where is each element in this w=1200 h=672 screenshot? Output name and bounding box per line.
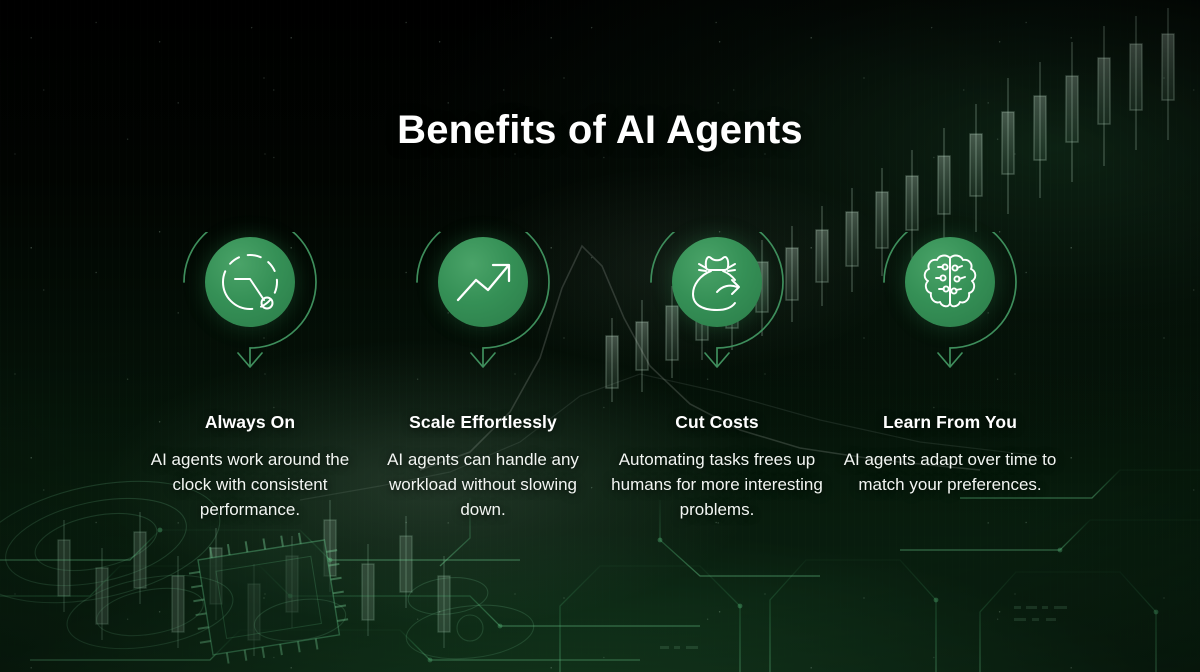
benefit-title: Always On [133,412,367,433]
benefit-card-always-on[interactable]: Always On AI agents work around the cloc… [133,232,367,522]
benefit-body: AI agents can handle any workload withou… [366,447,600,522]
icon-disc-learn-from-you [905,237,995,327]
icon-disc-always-on [205,237,295,327]
clock-icon [205,237,295,327]
icon-disc-scale-effortlessly [438,237,528,327]
trending-up-icon [438,237,528,327]
benefit-body: Automating tasks frees up humans for mor… [600,447,834,522]
brain-circuit-icon [905,237,995,327]
benefit-card-scale-effortlessly[interactable]: Scale Effortlessly AI agents can handle … [366,232,600,522]
slide-canvas: Benefits of AI Agents [0,0,1200,672]
benefit-body: AI agents adapt over time to match your … [833,447,1067,497]
benefit-title: Learn From You [833,412,1067,433]
benefit-body: AI agents work around the clock with con… [133,447,367,522]
money-bag-refresh-icon [672,237,762,327]
badge-learn-from-you [833,232,1067,402]
badge-always-on [133,232,367,402]
badge-cut-costs [600,232,834,402]
benefit-card-cut-costs[interactable]: Cut Costs Automating tasks frees up huma… [600,232,834,522]
benefits-list: Always On AI agents work around the cloc… [0,0,1200,672]
benefit-title: Scale Effortlessly [366,412,600,433]
icon-disc-cut-costs [672,237,762,327]
benefit-title: Cut Costs [600,412,834,433]
benefit-card-learn-from-you[interactable]: Learn From You AI agents adapt over time… [833,232,1067,497]
badge-scale-effortlessly [366,232,600,402]
